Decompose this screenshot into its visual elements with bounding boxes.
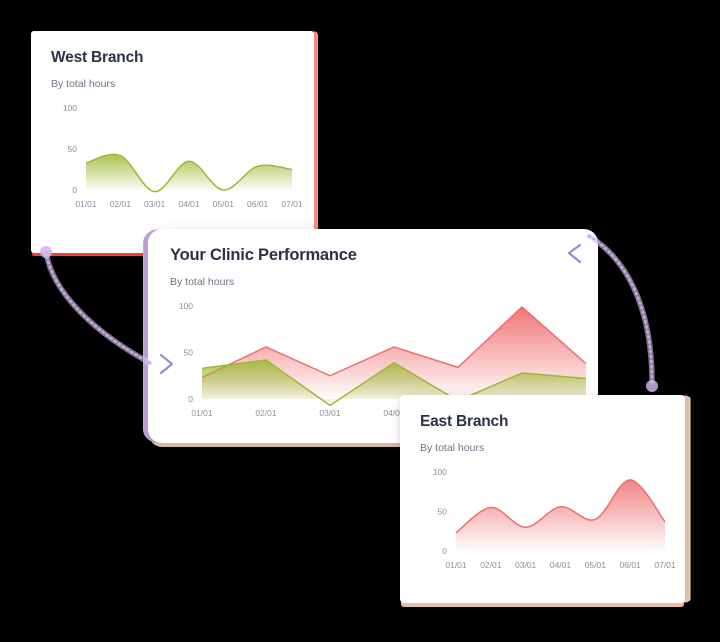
card-east-subtitle: By total hours: [420, 442, 665, 454]
chart-west-branch[interactable]: 05010001/0102/0103/0104/0105/0106/0107/0…: [31, 96, 314, 226]
card-east-branch[interactable]: East Branch By total hours 05010001/0102…: [400, 395, 685, 603]
card-east-header: East Branch By total hours: [400, 395, 685, 454]
card-main-header: Your Clinic Performance By total hours: [148, 229, 598, 288]
chart-east-svg: 05010001/0102/0103/0104/0105/0106/0107/0…: [400, 460, 685, 585]
x-axis-tick: 05/01: [213, 199, 235, 209]
x-axis-tick: 02/01: [255, 408, 277, 418]
x-axis-tick: 07/01: [654, 560, 676, 570]
x-axis-tick: 07/01: [281, 199, 303, 209]
x-axis-tick: 05/01: [585, 560, 607, 570]
card-west-branch[interactable]: West Branch By total hours 05010001/0102…: [31, 31, 314, 253]
x-axis-tick: 03/01: [515, 560, 537, 570]
y-axis-tick: 50: [438, 507, 448, 517]
card-west-subtitle: By total hours: [51, 78, 294, 90]
x-axis-tick: 01/01: [75, 199, 97, 209]
composition-stage: West Branch By total hours 05010001/0102…: [0, 0, 720, 642]
connector-west-to-main: [40, 246, 150, 363]
x-axis-tick: 04/01: [178, 199, 200, 209]
page-title-west: West Branch: [51, 49, 294, 67]
card-main-subtitle: By total hours: [170, 276, 576, 288]
page-title-main: Your Clinic Performance: [170, 246, 576, 265]
x-axis-tick: 06/01: [247, 199, 269, 209]
chart-west-svg: 05010001/0102/0103/0104/0105/0106/0107/0…: [31, 96, 314, 226]
x-axis-tick: 02/01: [110, 199, 132, 209]
y-axis-tick: 0: [442, 546, 447, 556]
y-axis-tick: 50: [68, 144, 78, 154]
x-axis-tick: 03/01: [319, 408, 341, 418]
x-axis-tick: 01/01: [445, 560, 467, 570]
chart-area-0: [86, 154, 292, 191]
y-axis-tick: 100: [433, 467, 447, 477]
chart-area-0: [456, 480, 665, 551]
x-axis-tick: 03/01: [144, 199, 166, 209]
card-west-header: West Branch By total hours: [31, 31, 314, 90]
x-axis-tick: 04/01: [550, 560, 572, 570]
connector-main-to-east: [589, 236, 658, 392]
y-axis-tick: 50: [184, 348, 194, 358]
y-axis-tick: 100: [179, 301, 193, 311]
x-axis-tick: 02/01: [480, 560, 502, 570]
x-axis-tick: 06/01: [620, 560, 642, 570]
page-title-east: East Branch: [420, 413, 665, 431]
chart-east-branch[interactable]: 05010001/0102/0103/0104/0105/0106/0107/0…: [400, 460, 685, 585]
x-axis-tick: 01/01: [191, 408, 213, 418]
y-axis-tick: 0: [188, 394, 193, 404]
y-axis-tick: 100: [63, 103, 77, 113]
y-axis-tick: 0: [72, 185, 77, 195]
